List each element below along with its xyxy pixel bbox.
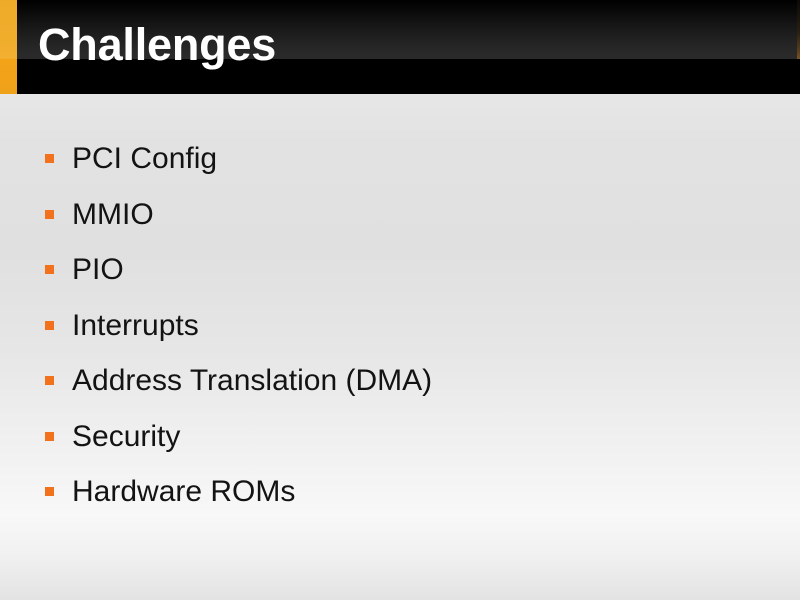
list-item: Hardware ROMs [45, 473, 765, 529]
list-item-label: Interrupts [72, 307, 199, 345]
list-item: Interrupts [45, 307, 765, 363]
list-item: PIO [45, 251, 765, 307]
list-item-label: Hardware ROMs [72, 473, 295, 511]
bullet-square-icon [45, 154, 54, 163]
bullet-list: PCI Config MMIO PIO Interrupts Address T… [45, 140, 765, 529]
slide-title: Challenges [38, 17, 276, 73]
bullet-square-icon [45, 210, 54, 219]
list-item: PCI Config [45, 140, 765, 196]
bullet-square-icon [45, 265, 54, 274]
list-item: MMIO [45, 196, 765, 252]
presentation-slide: Challenges PCI Config MMIO PIO Interrupt… [0, 0, 800, 600]
bullet-square-icon [45, 376, 54, 385]
bullet-square-icon [45, 321, 54, 330]
list-item-label: Security [72, 418, 180, 456]
bullet-square-icon [45, 487, 54, 496]
list-item-label: MMIO [72, 196, 154, 234]
bullet-square-icon [45, 432, 54, 441]
header-accent-bar-left [0, 0, 17, 94]
list-item-label: PCI Config [72, 140, 217, 178]
list-item-label: PIO [72, 251, 124, 289]
list-item-label: Address Translation (DMA) [72, 362, 432, 400]
list-item: Security [45, 418, 765, 474]
list-item: Address Translation (DMA) [45, 362, 765, 418]
